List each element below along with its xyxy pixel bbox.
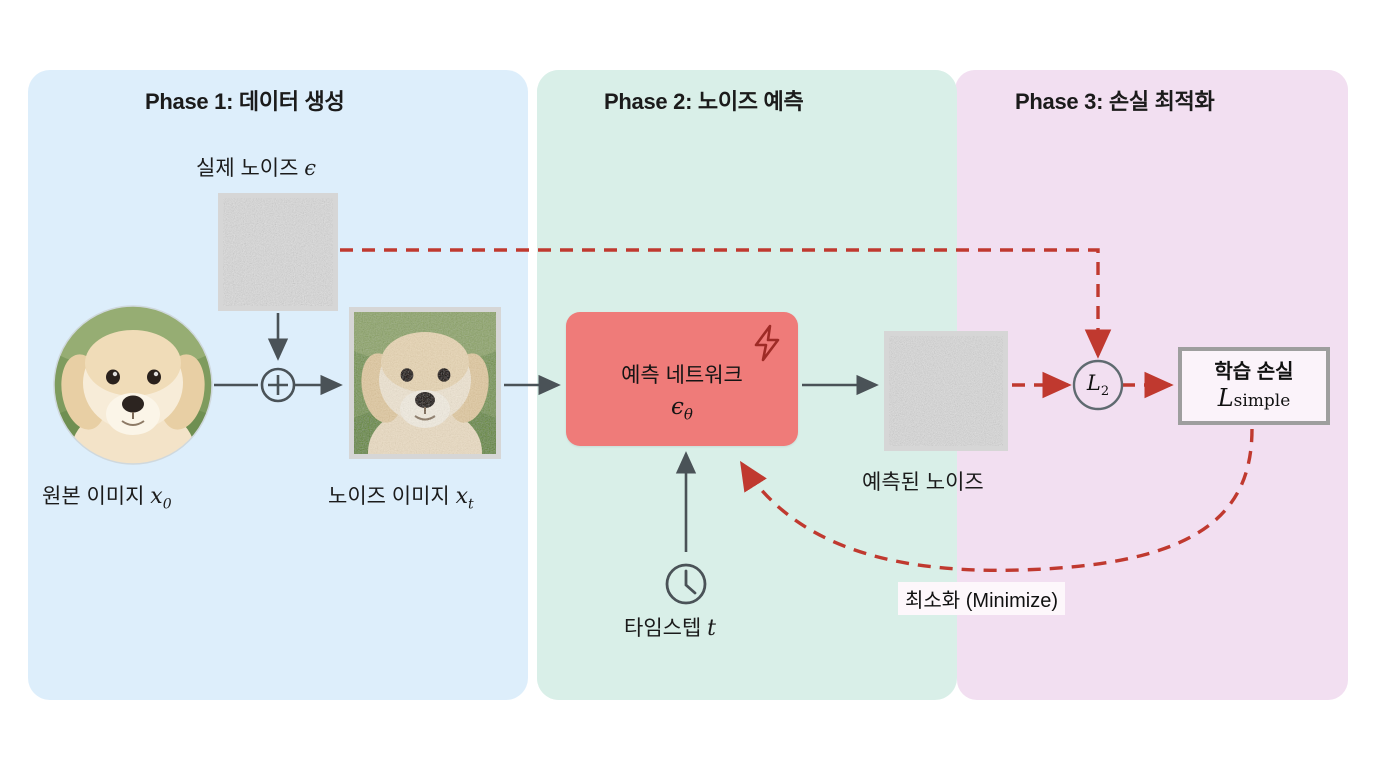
real-noise-label: 실제 노이즈 ϵ <box>196 152 316 182</box>
source-image-label: 원본 이미지 x0 <box>42 480 172 512</box>
timestep-label: 타임스텝 t <box>624 612 716 642</box>
noisy-image-text: 노이즈 이미지 <box>328 485 450 508</box>
clock-icon <box>662 560 710 608</box>
timestep-text: 타임스텝 <box>624 617 701 640</box>
real-noise-symbol: ϵ <box>304 156 316 180</box>
training-loss-box: 학습 손실 Lsimple <box>1178 347 1330 425</box>
prediction-network-symbol: ϵθ <box>566 394 798 424</box>
lightning-bolt-icon <box>750 324 784 362</box>
plus-circle-icon <box>262 369 294 401</box>
prediction-network-title: 예측 네트워크 <box>566 359 798 389</box>
real-noise-tile <box>218 193 338 311</box>
minimize-label: 최소화 (Minimize) <box>898 582 1065 615</box>
l2-node-label: L2 <box>1076 371 1120 399</box>
source-image-text: 원본 이미지 <box>42 485 144 508</box>
training-loss-title: 학습 손실 <box>1182 355 1326 384</box>
diagram-canvas: Phase 1: 데이터 생성 Phase 2: 노이즈 예측 Phase 3:… <box>0 0 1376 768</box>
predicted-noise-tile <box>884 331 1008 451</box>
predicted-noise-label: 예측된 노이즈 <box>862 466 984 496</box>
real-noise-text: 실제 노이즈 <box>196 157 298 180</box>
prediction-network-box[interactable]: 예측 네트워크 ϵθ <box>566 312 798 446</box>
phase3-title: Phase 3: 손실 최적화 <box>1015 84 1214 116</box>
phase2-title: Phase 2: 노이즈 예측 <box>604 84 803 116</box>
phase1-title: Phase 1: 데이터 생성 <box>145 84 344 116</box>
noisy-image-label: 노이즈 이미지 xt <box>328 480 474 512</box>
training-loss-symbol: Lsimple <box>1182 384 1326 412</box>
